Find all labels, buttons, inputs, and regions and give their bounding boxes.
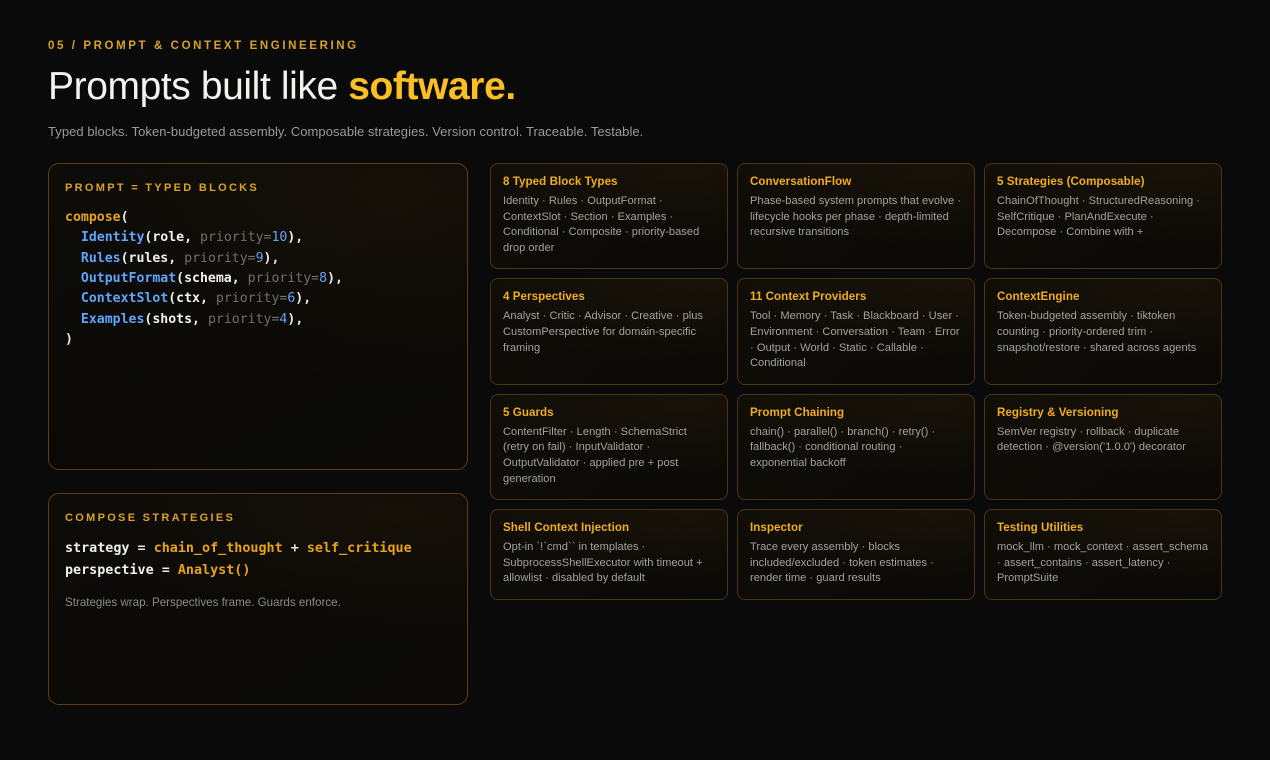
feature-card[interactable]: 11 Context Providers Tool · Memory · Tas… (737, 278, 975, 384)
code-cls-identity: Identity (81, 230, 145, 245)
code-tail-outputformat: ), (327, 271, 343, 286)
perspective-value: Analyst() (178, 563, 251, 578)
card-title: 11 Context Providers (750, 290, 962, 303)
feature-card[interactable]: ConversationFlow Phase-based system prom… (737, 163, 975, 269)
card-body: Tool · Memory · Task · Blackboard · User… (750, 309, 962, 371)
code-kw-examples: priority= (208, 312, 279, 327)
code-cls-rules: Rules (81, 251, 121, 266)
card-title: Registry & Versioning (997, 406, 1209, 419)
page-title-plain: Prompts built like (48, 65, 348, 108)
feature-card[interactable]: 4 Perspectives Analyst · Critic · Adviso… (490, 278, 728, 384)
card-body: Token-budgeted assembly · tiktoken count… (997, 309, 1209, 356)
code-block-compose: compose( Identity(role, priority=10), Ru… (49, 194, 467, 366)
strategy-equals: = (130, 541, 154, 556)
section-eyebrow: 05 / PROMPT & CONTEXT ENGINEERING (48, 40, 1222, 52)
card-body: Trace every assembly · blocks included/e… (750, 540, 962, 587)
card-body: Analyst · Critic · Advisor · Creative · … (503, 309, 715, 356)
right-column: 8 Typed Block Types Identity · Rules · O… (490, 163, 1222, 705)
content-layout: PROMPT = TYPED BLOCKS compose( Identity(… (48, 163, 1222, 705)
code-num-identity: 10 (271, 230, 287, 245)
code-num-rules: 9 (256, 251, 264, 266)
feature-card[interactable]: 5 Strategies (Composable) ChainOfThought… (984, 163, 1222, 269)
card-body: chain() · parallel() · branch() · retry(… (750, 425, 962, 472)
panel-typed-blocks: PROMPT = TYPED BLOCKS compose( Identity(… (48, 163, 468, 470)
strategy-key: strategy (65, 541, 130, 556)
strategy-value-b: self_critique (307, 541, 412, 556)
card-body: mock_llm · mock_context · assert_schema … (997, 540, 1209, 587)
card-title: Testing Utilities (997, 521, 1209, 534)
panel-typed-blocks-label: PROMPT = TYPED BLOCKS (49, 164, 467, 194)
card-title: Inspector (750, 521, 962, 534)
code-num-outputformat: 8 (319, 271, 327, 286)
feature-card[interactable]: ContextEngine Token-budgeted assembly · … (984, 278, 1222, 384)
feature-card[interactable]: Prompt Chaining chain() · parallel() · b… (737, 394, 975, 500)
page-title: Prompts built like software. (48, 66, 1222, 108)
card-title: 5 Strategies (Composable) (997, 175, 1209, 188)
code-fn-compose: compose (65, 210, 121, 225)
code-cls-contextslot: ContextSlot (81, 291, 168, 306)
strategy-value-a: chain_of_thought (154, 541, 283, 556)
code-args-rules: (rules, (121, 251, 185, 266)
page-title-accent: software. (348, 65, 516, 108)
feature-card-grid: 8 Typed Block Types Identity · Rules · O… (490, 163, 1222, 600)
perspective-equals: = (154, 563, 178, 578)
code-args-examples: (shots, (144, 312, 208, 327)
page-subtitle: Typed blocks. Token-budgeted assembly. C… (48, 124, 1222, 139)
code-paren-close: ) (65, 332, 73, 347)
code-args-outputformat: (schema, (176, 271, 247, 286)
card-title: Prompt Chaining (750, 406, 962, 419)
code-tail-rules: ), (264, 251, 280, 266)
strategy-plus: + (283, 541, 307, 556)
card-title: 8 Typed Block Types (503, 175, 715, 188)
card-body: Identity · Rules · OutputFormat · Contex… (503, 194, 715, 256)
feature-card[interactable]: 8 Typed Block Types Identity · Rules · O… (490, 163, 728, 269)
feature-card[interactable]: 5 Guards ContentFilter · Length · Schema… (490, 394, 728, 500)
code-kw-outputformat: priority= (248, 271, 319, 286)
panel-compose-strategies: COMPOSE STRATEGIES strategy = chain_of_t… (48, 493, 468, 705)
left-column: PROMPT = TYPED BLOCKS compose( Identity(… (48, 163, 468, 705)
code-kw-contextslot: priority= (216, 291, 287, 306)
feature-card[interactable]: Shell Context Injection Opt-in `!`cmd`` … (490, 509, 728, 600)
code-cls-outputformat: OutputFormat (81, 271, 176, 286)
feature-card[interactable]: Testing Utilities mock_llm · mock_contex… (984, 509, 1222, 600)
header: 05 / PROMPT & CONTEXT ENGINEERING Prompt… (48, 40, 1222, 139)
feature-card[interactable]: Registry & Versioning SemVer registry · … (984, 394, 1222, 500)
code-paren-open: ( (121, 210, 129, 225)
card-body: Opt-in `!`cmd`` in templates · Subproces… (503, 540, 715, 587)
feature-card[interactable]: Inspector Trace every assembly · blocks … (737, 509, 975, 600)
perspective-key: perspective (65, 563, 154, 578)
card-title: ContextEngine (997, 290, 1209, 303)
slide-root: 05 / PROMPT & CONTEXT ENGINEERING Prompt… (0, 0, 1270, 705)
card-body: ChainOfThought · StructuredReasoning · S… (997, 194, 1209, 241)
code-kw-rules: priority= (184, 251, 255, 266)
card-title: 5 Guards (503, 406, 715, 419)
compose-note: Strategies wrap. Perspectives frame. Gua… (49, 582, 467, 609)
code-kw-identity: priority= (200, 230, 271, 245)
code-cls-examples: Examples (81, 312, 145, 327)
card-title: Shell Context Injection (503, 521, 715, 534)
code-tail-contextslot: ), (295, 291, 311, 306)
card-body: Phase-based system prompts that evolve ·… (750, 194, 962, 241)
code-args-identity: (role, (144, 230, 200, 245)
card-title: ConversationFlow (750, 175, 962, 188)
card-body: SemVer registry · rollback · duplicate d… (997, 425, 1209, 456)
code-tail-identity: ), (287, 230, 303, 245)
code-block-strategy: strategy = chain_of_thought + self_criti… (49, 524, 467, 582)
card-body: ContentFilter · Length · SchemaStrict (r… (503, 425, 715, 487)
panel-compose-label: COMPOSE STRATEGIES (49, 494, 467, 524)
card-title: 4 Perspectives (503, 290, 715, 303)
code-tail-examples: ), (287, 312, 303, 327)
code-args-contextslot: (ctx, (168, 291, 216, 306)
